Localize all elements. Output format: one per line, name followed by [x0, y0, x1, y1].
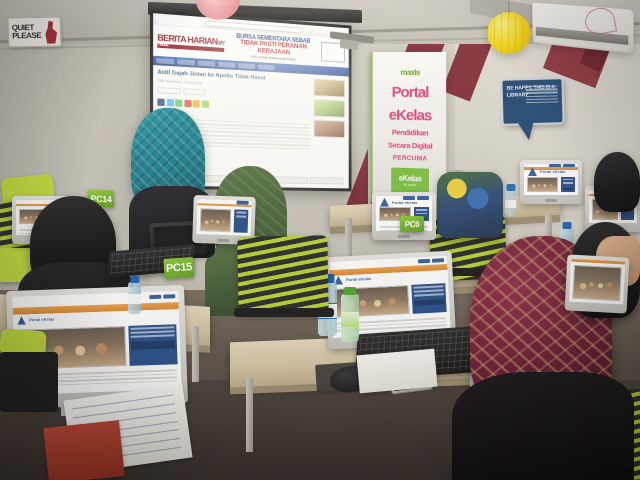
pc-label-6: PC6 — [400, 216, 424, 232]
open-notebook — [356, 349, 437, 394]
chair-frame-left — [0, 352, 58, 412]
water-bottle[interactable] — [128, 282, 141, 314]
site-sidebar — [314, 78, 346, 153]
lantern-ribs — [487, 12, 531, 54]
participant-top-right — [594, 152, 640, 212]
maxis-logo: maxis — [378, 68, 444, 77]
water-bottle-green-cap[interactable] — [341, 294, 359, 342]
nav-item-rencana[interactable] — [258, 64, 275, 70]
student-backpack[interactable] — [437, 172, 503, 238]
projector-unit — [340, 39, 358, 50]
sidebar-thumbnail[interactable] — [314, 119, 346, 138]
sidebar-thumbnail[interactable] — [314, 78, 346, 97]
desk-leg — [192, 326, 199, 382]
sidebar-thumbnail[interactable] — [314, 99, 346, 118]
participant-front-right-body — [452, 372, 634, 480]
nav-item-sukan[interactable] — [218, 62, 235, 68]
shushing-person-icon — [44, 21, 58, 44]
site-logo: BERITA HARIAN.MY ONLINE — [157, 33, 224, 52]
classroom-photo-scene: QUIET PLEASE BERITA HARIAN.MY ONLINE BUR… — [0, 0, 640, 480]
banner-title-line2: eKelas — [378, 109, 444, 125]
laptop-screen[interactable] — [569, 259, 625, 305]
quiet-sign-line2: PLEASE — [12, 32, 41, 41]
google-plus-icon[interactable] — [184, 99, 191, 107]
banner-subtitle-line2: Secara Digital — [378, 141, 444, 151]
banner-free-label: PERCUMA — [378, 154, 444, 163]
library-speech-bubble-sign: BE HAPPY, THIS IS A LIBRARY — [500, 77, 564, 126]
twitter-icon[interactable] — [166, 99, 173, 107]
paper-lantern-yellow — [487, 12, 531, 54]
comment-button[interactable] — [183, 88, 206, 95]
whatsapp-icon[interactable] — [175, 99, 182, 107]
pc-label-15: PC15 — [163, 257, 194, 279]
desk-leg — [246, 378, 253, 452]
monitor-screen[interactable] — [196, 199, 251, 236]
banner-title-line1: Portal — [378, 86, 444, 101]
site-logo-tld: .MY — [217, 40, 224, 47]
quiet-please-sign: QUIET PLEASE — [7, 17, 61, 48]
banner-subtitle-line1: Pendidikan — [378, 128, 444, 137]
email-icon[interactable] — [193, 100, 200, 107]
maxis-ekelas-banner: maxis Portal eKelas Pendidikan Secara Di… — [371, 52, 446, 206]
screen-site-name: Portal eKelas — [346, 276, 372, 282]
water-bottle[interactable] — [505, 190, 516, 216]
chair-center[interactable] — [237, 235, 328, 315]
site-banner-ad[interactable]: BURSA SEMENTARA SEBAB TIDAK PASTI PERANA… — [230, 33, 317, 63]
speech-bubble-body — [526, 85, 558, 105]
laptop-far-right[interactable]: Portal eKelas — [520, 160, 582, 204]
chair-frame — [234, 308, 334, 317]
screen-site-name: Portal eKelas — [29, 317, 55, 323]
share-button[interactable] — [157, 87, 180, 94]
print-icon[interactable] — [201, 100, 208, 107]
laptop-screen[interactable]: Portal eKelas — [524, 164, 578, 195]
nav-item-bisnes[interactable] — [198, 61, 215, 67]
nav-item-berita[interactable] — [177, 59, 195, 65]
facebook-icon[interactable] — [157, 98, 164, 106]
nav-item-utama[interactable] — [156, 58, 174, 64]
nav-item-hiburan[interactable] — [238, 63, 255, 69]
ekelas-badge-sub: by maxis — [404, 183, 416, 187]
ekelas-badge: eKelas by maxis — [391, 167, 429, 194]
laptop-right-edge[interactable] — [565, 254, 630, 313]
red-folder[interactable] — [43, 420, 124, 480]
